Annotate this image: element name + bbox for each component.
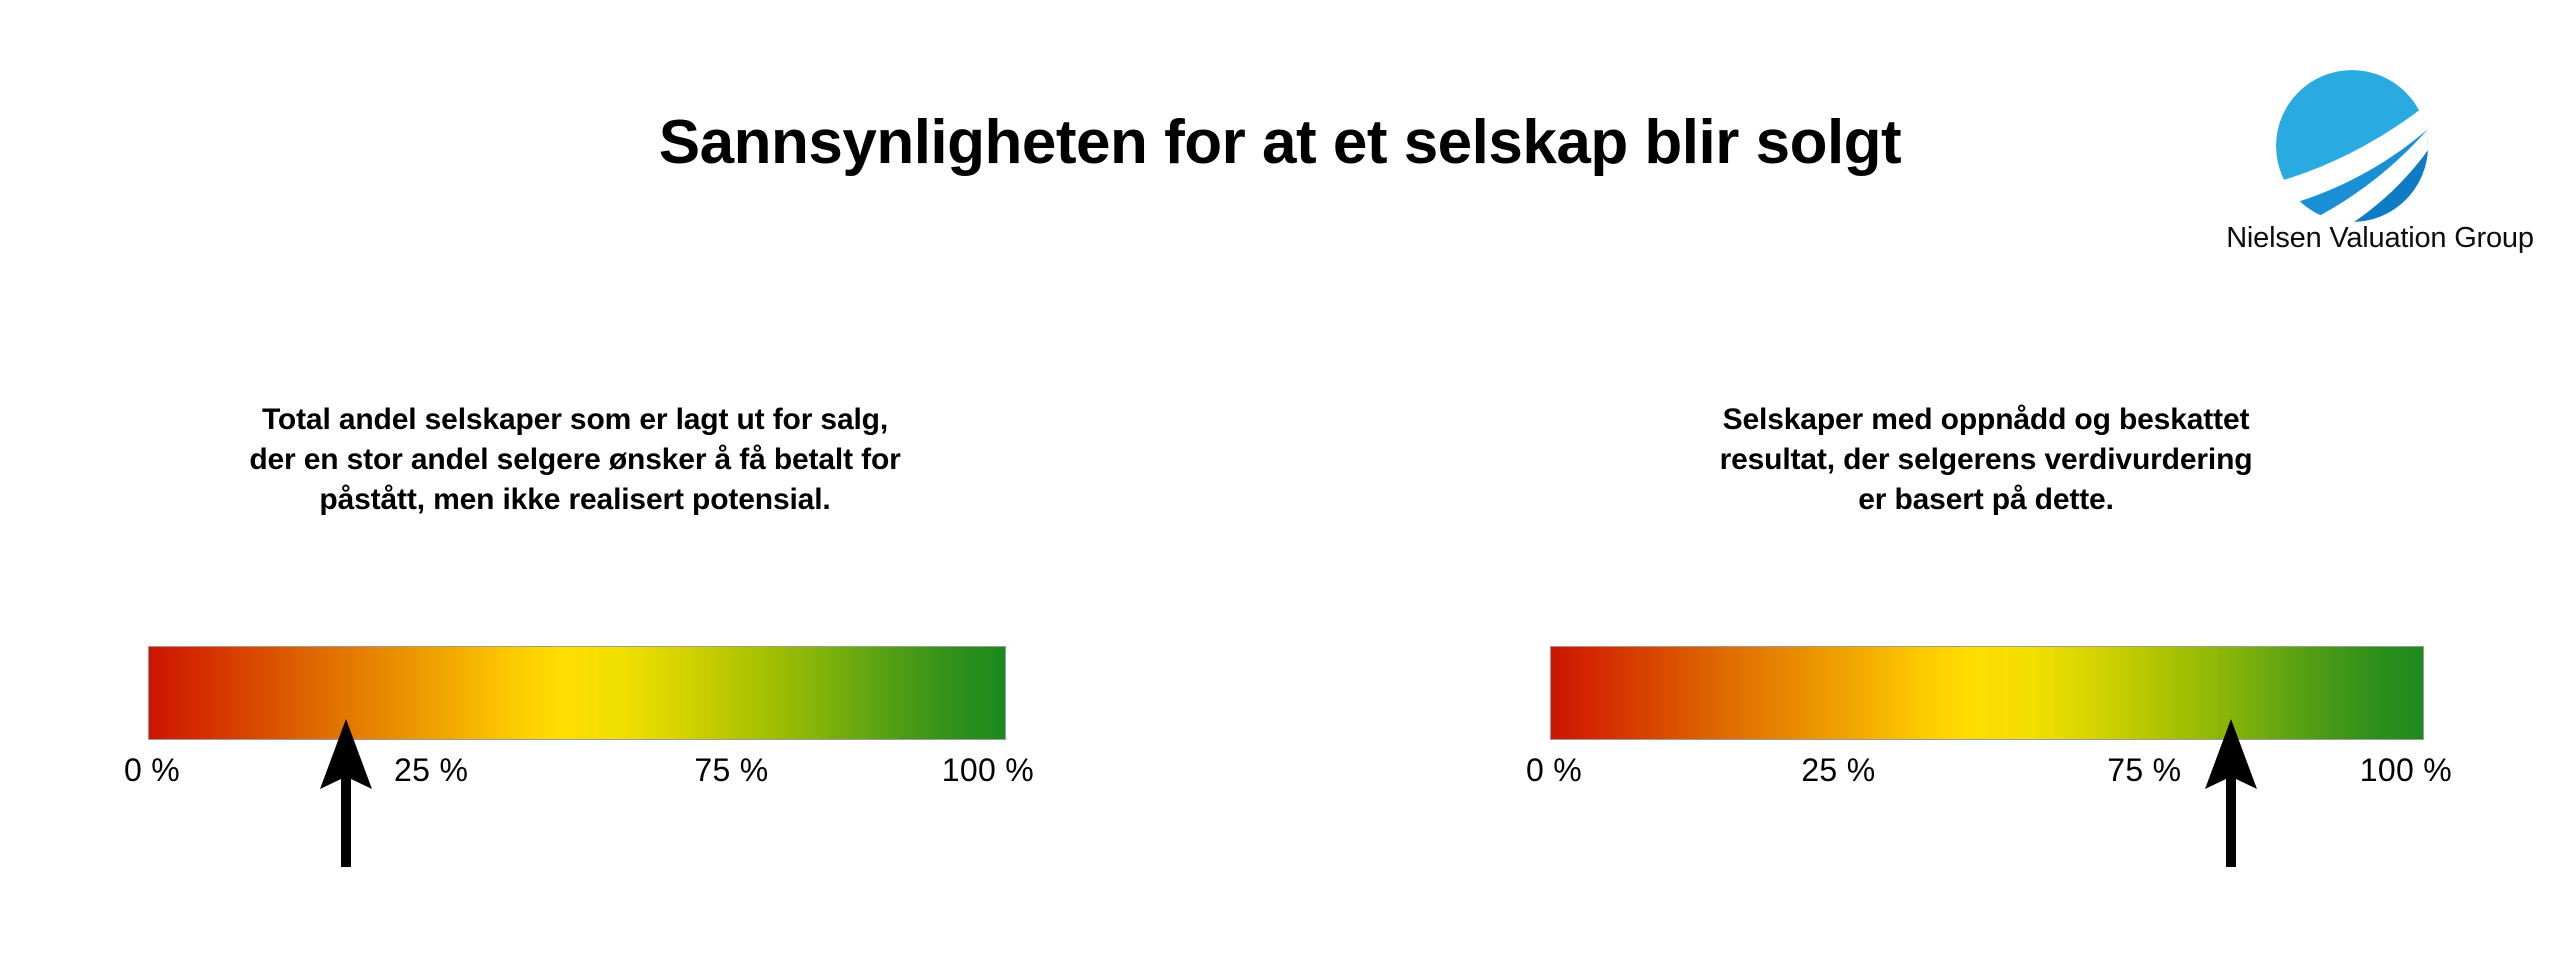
- globe-swoosh-logo-icon: [2268, 62, 2436, 230]
- gradient-bar-right: [1550, 646, 2424, 740]
- page-header: Sannsynligheten for at et selskap blir s…: [0, 0, 2560, 300]
- caption-line-3: påstått, men ikke realisert potensial.: [130, 480, 1020, 520]
- tick-label-75: 75 %: [694, 752, 768, 789]
- scale-right: 0 % 25 % 75 % 100 %: [1550, 646, 2424, 808]
- tick-label-25: 25 %: [1801, 752, 1875, 789]
- tick-row-left: 0 % 25 % 75 % 100 %: [148, 752, 1006, 808]
- scale-left: 0 % 25 % 75 % 100 %: [148, 646, 1006, 808]
- caption-line-3: er basert på dette.: [1536, 480, 2436, 520]
- caption-line-1: Selskaper med oppnådd og beskattet: [1536, 400, 2436, 440]
- brand-logo: Nielsen Valuation Group: [2268, 62, 2560, 262]
- caption-line-2: der en stor andel selgere ønsker å få be…: [130, 440, 1020, 480]
- panel-left-caption: Total andel selskaper som er lagt ut for…: [130, 400, 1020, 520]
- tick-label-0: 0 %: [124, 752, 180, 789]
- tick-label-25: 25 %: [394, 752, 468, 789]
- page-title: Sannsynligheten for at et selskap blir s…: [0, 110, 2560, 175]
- caption-line-1: Total andel selskaper som er lagt ut for…: [130, 400, 1020, 440]
- tick-label-100: 100 %: [2360, 752, 2452, 789]
- tick-row-right: 0 % 25 % 75 % 100 %: [1550, 752, 2424, 808]
- tick-label-75: 75 %: [2107, 752, 2181, 789]
- gradient-bar-left: [148, 646, 1006, 740]
- brand-name: Nielsen Valuation Group: [2200, 222, 2560, 255]
- tick-label-100: 100 %: [942, 752, 1034, 789]
- panel-right-caption: Selskaper med oppnådd og beskattet resul…: [1536, 400, 2436, 520]
- tick-label-0: 0 %: [1526, 752, 1582, 789]
- caption-line-2: resultat, der selgerens verdivurdering: [1536, 440, 2436, 480]
